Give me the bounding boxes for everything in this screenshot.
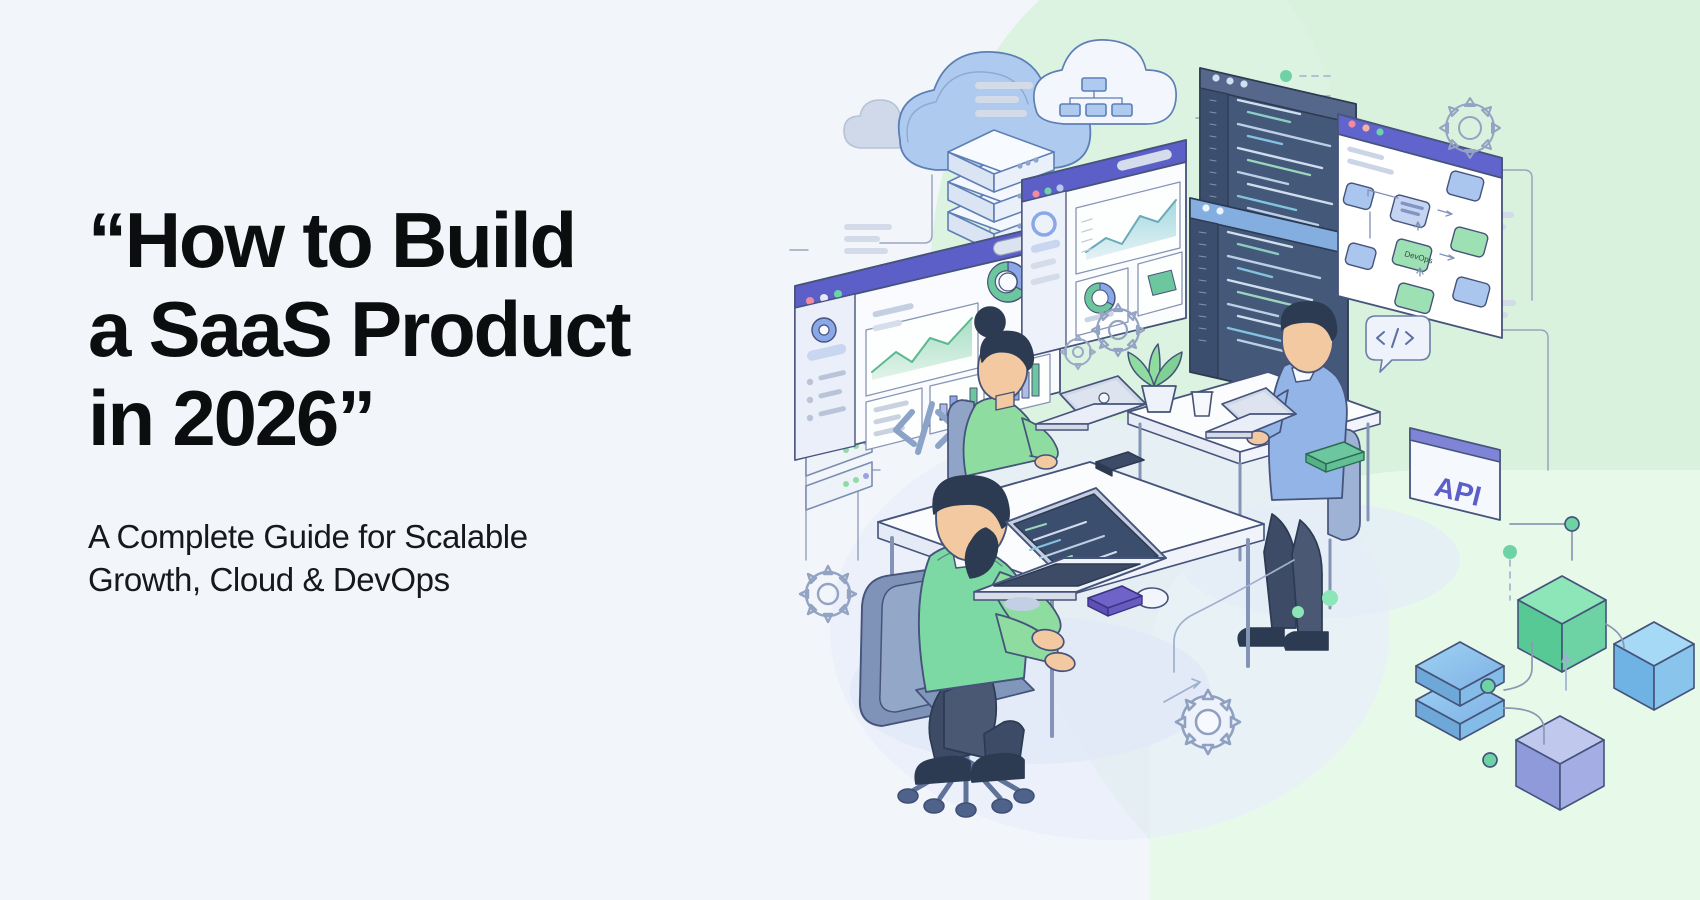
coffee-cup <box>1191 392 1213 416</box>
code-chat-bubble <box>1366 316 1430 372</box>
devops-flowchart-window[interactable]: DevOps <box>1338 114 1502 338</box>
illustration-svg: DevOps <box>0 0 1700 900</box>
node-dot-2 <box>1503 545 1517 559</box>
banner-root: “How to Build a SaaS Product in 2026” A … <box>0 0 1700 900</box>
book-purple <box>1088 586 1142 616</box>
gear-icon-bottom <box>1176 690 1240 754</box>
illustration: DevOps <box>0 0 1700 900</box>
gear-icon-topright <box>1440 98 1500 158</box>
cloud-network-node <box>1034 40 1176 124</box>
api-badge: API <box>1410 428 1500 520</box>
node-dot-1 <box>1280 70 1292 82</box>
gear-icon-left <box>800 566 856 622</box>
